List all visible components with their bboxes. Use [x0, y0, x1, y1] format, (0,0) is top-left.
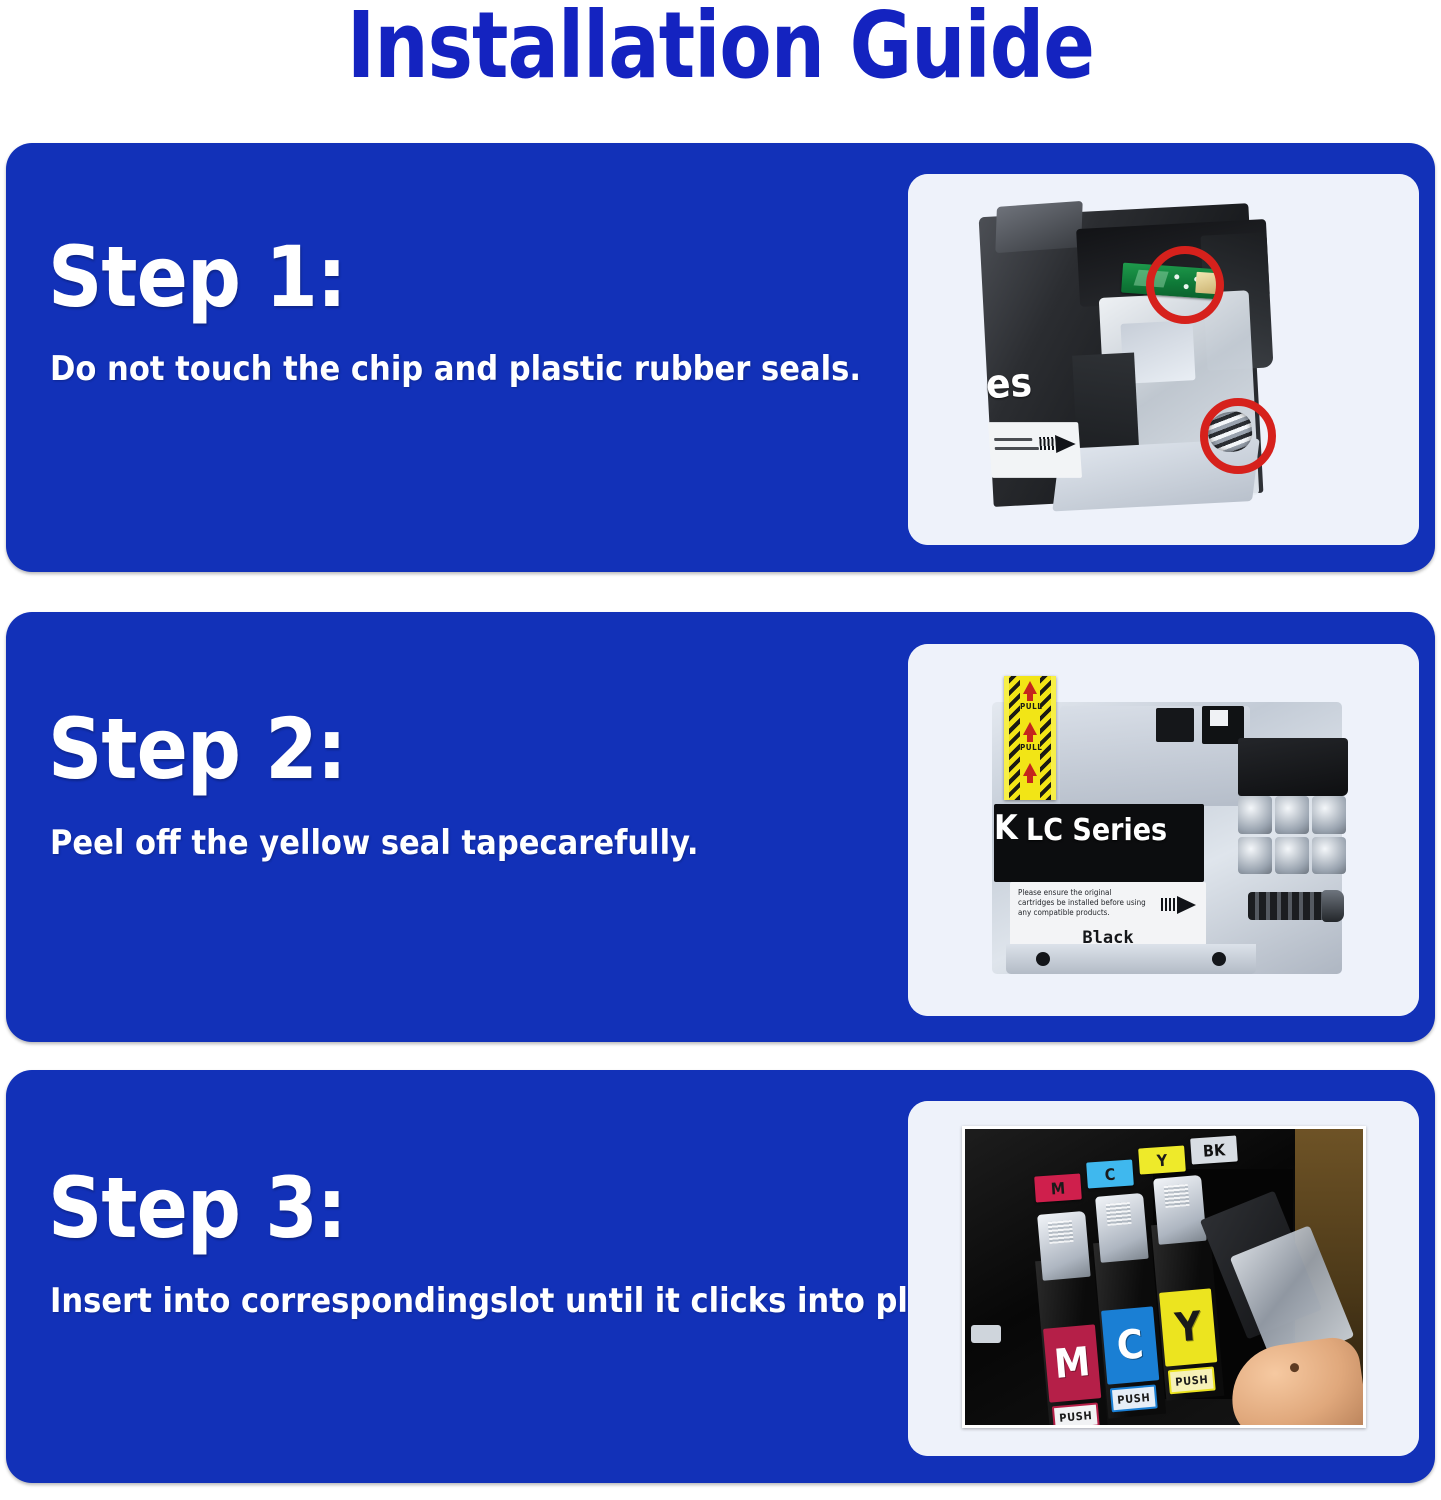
cartridge-top-block [1156, 708, 1194, 742]
label-text-line-2 [995, 447, 1039, 450]
step-panel-2: Step 2: Peel off the yellow seal tapecar… [6, 612, 1435, 1042]
port-5 [1275, 837, 1309, 875]
step-3-label: Step 3: [48, 1166, 346, 1250]
pull-cell-1: PULL [1020, 676, 1040, 717]
cartridge-top-window [1210, 710, 1228, 726]
cartridge-side-text: es [985, 363, 1033, 405]
cartridge-color-letter: C [1101, 1306, 1159, 1384]
cartridge-nozzle-tip [1322, 890, 1344, 922]
finger-mole [1289, 1363, 1299, 1373]
port-3 [1312, 796, 1346, 834]
cartridge-right-housing [1238, 738, 1348, 796]
pull-label-2: PULL [1020, 743, 1040, 752]
cartridge-push-label[interactable]: PUSH [1168, 1366, 1216, 1394]
base-hole-2 [1212, 952, 1226, 966]
label-bars-icon [1161, 898, 1177, 911]
arrow-right-icon [1177, 896, 1196, 914]
step-2-image-card: K LC Series Please ensure the original c… [908, 644, 1419, 1016]
cartridge-k-letter: K [994, 810, 1018, 846]
pull-cell-3 [1020, 758, 1040, 799]
cartridge-color-letter: Y [1159, 1288, 1217, 1366]
port-1 [1238, 796, 1272, 834]
cartridge-clear-cap [1037, 1211, 1091, 1281]
cartridge-color-letter: M [1043, 1324, 1101, 1402]
slot-label-c: C [1086, 1159, 1134, 1188]
port-4 [1238, 837, 1272, 875]
label-bars-icon [1039, 437, 1056, 450]
cartridge-clear-cap [1153, 1175, 1207, 1245]
step-2-photo-cartridge-pull-tape: K LC Series Please ensure the original c… [908, 644, 1419, 1016]
cartridge-push-label[interactable]: PUSH [1052, 1402, 1100, 1428]
slot-label-y: Y [1138, 1145, 1186, 1174]
slot-label-m: M [1034, 1173, 1082, 1202]
photo-frame: M C Y BK M PUSH C PUSH [962, 1126, 1366, 1428]
step-3-image-card: M C Y BK M PUSH C PUSH [908, 1101, 1419, 1456]
label-text-line-1 [994, 438, 1032, 441]
cartridge-top-notch [995, 201, 1082, 253]
arrow-up-icon [1023, 763, 1037, 776]
base-hole-1 [1036, 952, 1050, 966]
chevron-stripe-left [1009, 676, 1020, 800]
step-1-photo-cartridge-chip-seal: es [908, 174, 1419, 545]
step-panel-3: Step 3: Insert into correspondingslot un… [6, 1070, 1435, 1483]
port-2 [1275, 796, 1309, 834]
slot-label-bk: BK [1190, 1135, 1238, 1164]
step-1-label: Step 1: [48, 235, 346, 319]
step-3-photo-printer-carriage: M C Y BK M PUSH C PUSH [908, 1101, 1419, 1456]
cartridge-notice-text: Please ensure the original cartridges be… [1018, 888, 1148, 918]
cartridge-brand-label: LC Series [1026, 814, 1167, 848]
step-1-description: Do not touch the chip and plastic rubber… [50, 350, 861, 388]
step-panel-1: Step 1: Do not touch the chip and plasti… [6, 143, 1435, 572]
step-1-image-card: es [908, 174, 1419, 545]
arrow-up-icon [1023, 722, 1037, 735]
arrow-right-icon [1055, 435, 1076, 453]
highlight-circle-chip [1146, 246, 1224, 324]
yellow-seal-pull-tape[interactable]: PULL PULL [1004, 676, 1056, 800]
page-title: Installation Guide [58, 0, 1384, 96]
cartridge-push-label[interactable]: PUSH [1110, 1384, 1158, 1412]
port-6 [1312, 837, 1346, 875]
arrow-up-icon [1023, 681, 1037, 694]
carriage-left-tab [971, 1325, 1001, 1343]
highlight-circle-rubber-seal [1200, 398, 1276, 474]
cartridge-port-grid [1238, 796, 1346, 874]
step-2-label: Step 2: [48, 707, 346, 791]
cartridge-side-label [988, 422, 1082, 478]
pull-label-1: PULL [1020, 702, 1040, 711]
pull-cell-2: PULL [1020, 717, 1040, 758]
step-3-description: Insert into correspondingslot until it c… [50, 1282, 967, 1320]
step-2-description: Peel off the yellow seal tapecarefully. [50, 824, 699, 862]
cartridge-clear-cap [1095, 1193, 1149, 1263]
chevron-stripe-right [1040, 676, 1051, 800]
